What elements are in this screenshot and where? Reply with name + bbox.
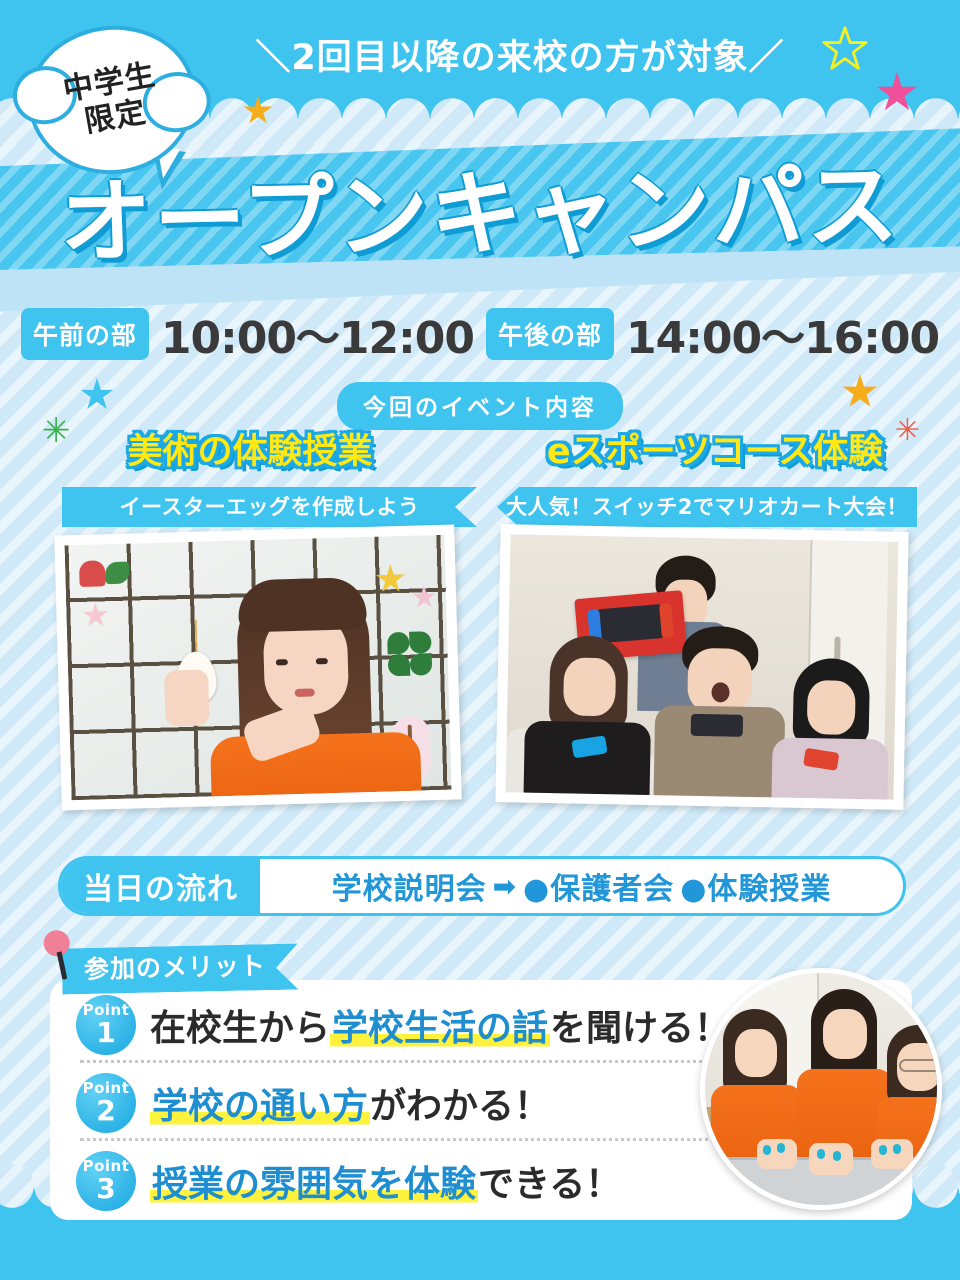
catch-copy: ＼2回目以降の来校の方が対象／ <box>200 30 840 86</box>
point-badge-1: Point 1 <box>76 995 136 1055</box>
merit-point-row-1: Point 1 在校生から学校生活の話を聞ける！ <box>76 994 730 1056</box>
point-badge-number-2: 2 <box>96 1097 115 1125</box>
event-contents-pill: 今回のイベント内容 <box>337 382 623 430</box>
merit-point-post-3: できる！ <box>478 1164 621 1205</box>
merit-point-pre-1: 在校生から <box>150 1008 330 1049</box>
arrow-right-icon: ➡ <box>493 870 517 903</box>
merit-tag: 参加のメリット <box>62 944 299 995</box>
point-badge-number-3: 3 <box>96 1175 115 1203</box>
merit-point-row-3: Point 3 授業の雰囲気を体験できる！ <box>76 1150 621 1212</box>
merit-point-highlight-2: 学校の通い方 <box>150 1086 370 1127</box>
merit-point-row-2: Point 2 学校の通い方がわかる！ <box>76 1072 550 1134</box>
day-flow-bar: 当日の流れ 学校説明会 ➡ ●保護者会 ●体験授業 <box>58 856 906 916</box>
event-heading-art: 美術の体験授業 <box>40 430 460 474</box>
point-badge-number-1: 1 <box>96 1019 115 1047</box>
flow-step-3: ●体験授業 <box>680 864 831 908</box>
merit-point-text-1: 在校生から学校生活の話を聞ける！ <box>150 999 730 1051</box>
photo-students-circle <box>700 968 942 1210</box>
afternoon-time: 14:00〜16:00 <box>626 302 939 366</box>
photo-esports-class <box>495 524 908 810</box>
schedule-row: 午前の部 10:00〜12:00 午後の部 14:00〜16:00 <box>0 305 960 363</box>
flow-label: 当日の流れ <box>61 859 260 913</box>
morning-time: 10:00〜12:00 <box>161 302 474 366</box>
point-badge-2: Point 2 <box>76 1073 136 1133</box>
event-heading-esports: eスポーツコース体験 <box>500 430 930 474</box>
event-sub-esports: 大人気！スイッチ2でマリオカート大会！ <box>497 487 917 527</box>
poster-root: ＼2回目以降の来校の方が対象／ 中学生 限定 オープンキャンパス 午前の部 10… <box>0 0 960 1280</box>
afternoon-label: 午後の部 <box>486 308 614 360</box>
event-sub-art: イースターエッグを作成しよう <box>62 487 477 527</box>
point-badge-3: Point 3 <box>76 1151 136 1211</box>
flow-step-2: ●保護者会 <box>523 864 674 908</box>
merit-point-post-1: を聞ける！ <box>550 1008 730 1049</box>
merit-point-highlight-3: 授業の雰囲気を体験 <box>150 1164 478 1205</box>
merit-point-post-2: がわかる！ <box>370 1086 550 1127</box>
flow-step-1: 学校説明会 <box>332 864 487 908</box>
photo-art-class <box>54 524 462 810</box>
morning-label: 午前の部 <box>21 308 149 360</box>
merit-point-text-2: 学校の通い方がわかる！ <box>150 1077 550 1129</box>
merit-point-text-3: 授業の雰囲気を体験できる！ <box>150 1155 621 1207</box>
merit-point-highlight-1: 学校生活の話 <box>330 1008 550 1049</box>
